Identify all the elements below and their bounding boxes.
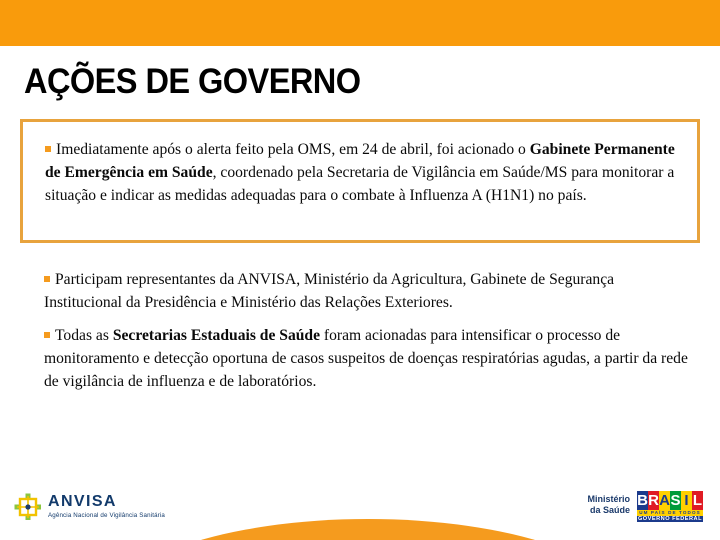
brasil-letter: I <box>681 491 692 510</box>
ministerio-line-1: Ministério <box>578 494 630 505</box>
anvisa-logo: ANVISA Agência Nacional de Vigilância Sa… <box>14 492 165 522</box>
footer-swoosh-decoration <box>108 519 628 540</box>
square-bullet-icon <box>45 146 51 152</box>
square-bullet-icon <box>44 332 50 338</box>
callout-paragraph: Imediatamente após o alerta feito pela O… <box>45 138 683 207</box>
brasil-letter: B <box>637 491 648 510</box>
callout-box: Imediatamente após o alerta feito pela O… <box>20 119 700 243</box>
square-bullet-icon <box>44 276 50 282</box>
brasil-governo-federal-logo: B R A S I L UM PAÍS DE TODOS GOVERNO FED… <box>637 491 703 522</box>
page-title: AÇÕES DE GOVERNO <box>24 62 361 102</box>
anvisa-tagline: Agência Nacional de Vigilância Sanitária <box>48 511 165 520</box>
header-band <box>0 0 720 46</box>
anvisa-name: ANVISA <box>48 494 165 510</box>
brasil-letter: R <box>648 491 659 510</box>
ministerio-line-2: da Saúde <box>578 505 630 516</box>
callout-text-lead: Imediatamente após o alerta feito pela O… <box>56 141 530 158</box>
anvisa-wordmark: ANVISA Agência Nacional de Vigilância Sa… <box>48 494 165 520</box>
paragraph-text-emphasis: Secretarias Estaduais de Saúde <box>113 327 320 344</box>
brasil-governo-federal-label: GOVERNO FEDERAL <box>637 516 703 522</box>
brasil-letters: B R A S I L <box>637 491 703 510</box>
body-paragraph: Participam representantes da ANVISA, Min… <box>44 268 694 314</box>
brasil-letter: S <box>670 491 681 510</box>
paragraph-text-lead: Todas as <box>55 327 113 344</box>
brasil-letter: L <box>692 491 703 510</box>
anvisa-cross-icon <box>14 493 42 521</box>
body-paragraph: Todas as Secretarias Estaduais de Saúde … <box>44 324 694 393</box>
paragraph-text-lead: Participam representantes da ANVISA, Min… <box>44 271 614 311</box>
ministerio-da-saude-label: Ministério da Saúde <box>578 494 630 516</box>
brasil-letter: A <box>659 491 670 510</box>
slide-canvas: AÇÕES DE GOVERNO Imediatamente após o al… <box>0 0 720 540</box>
